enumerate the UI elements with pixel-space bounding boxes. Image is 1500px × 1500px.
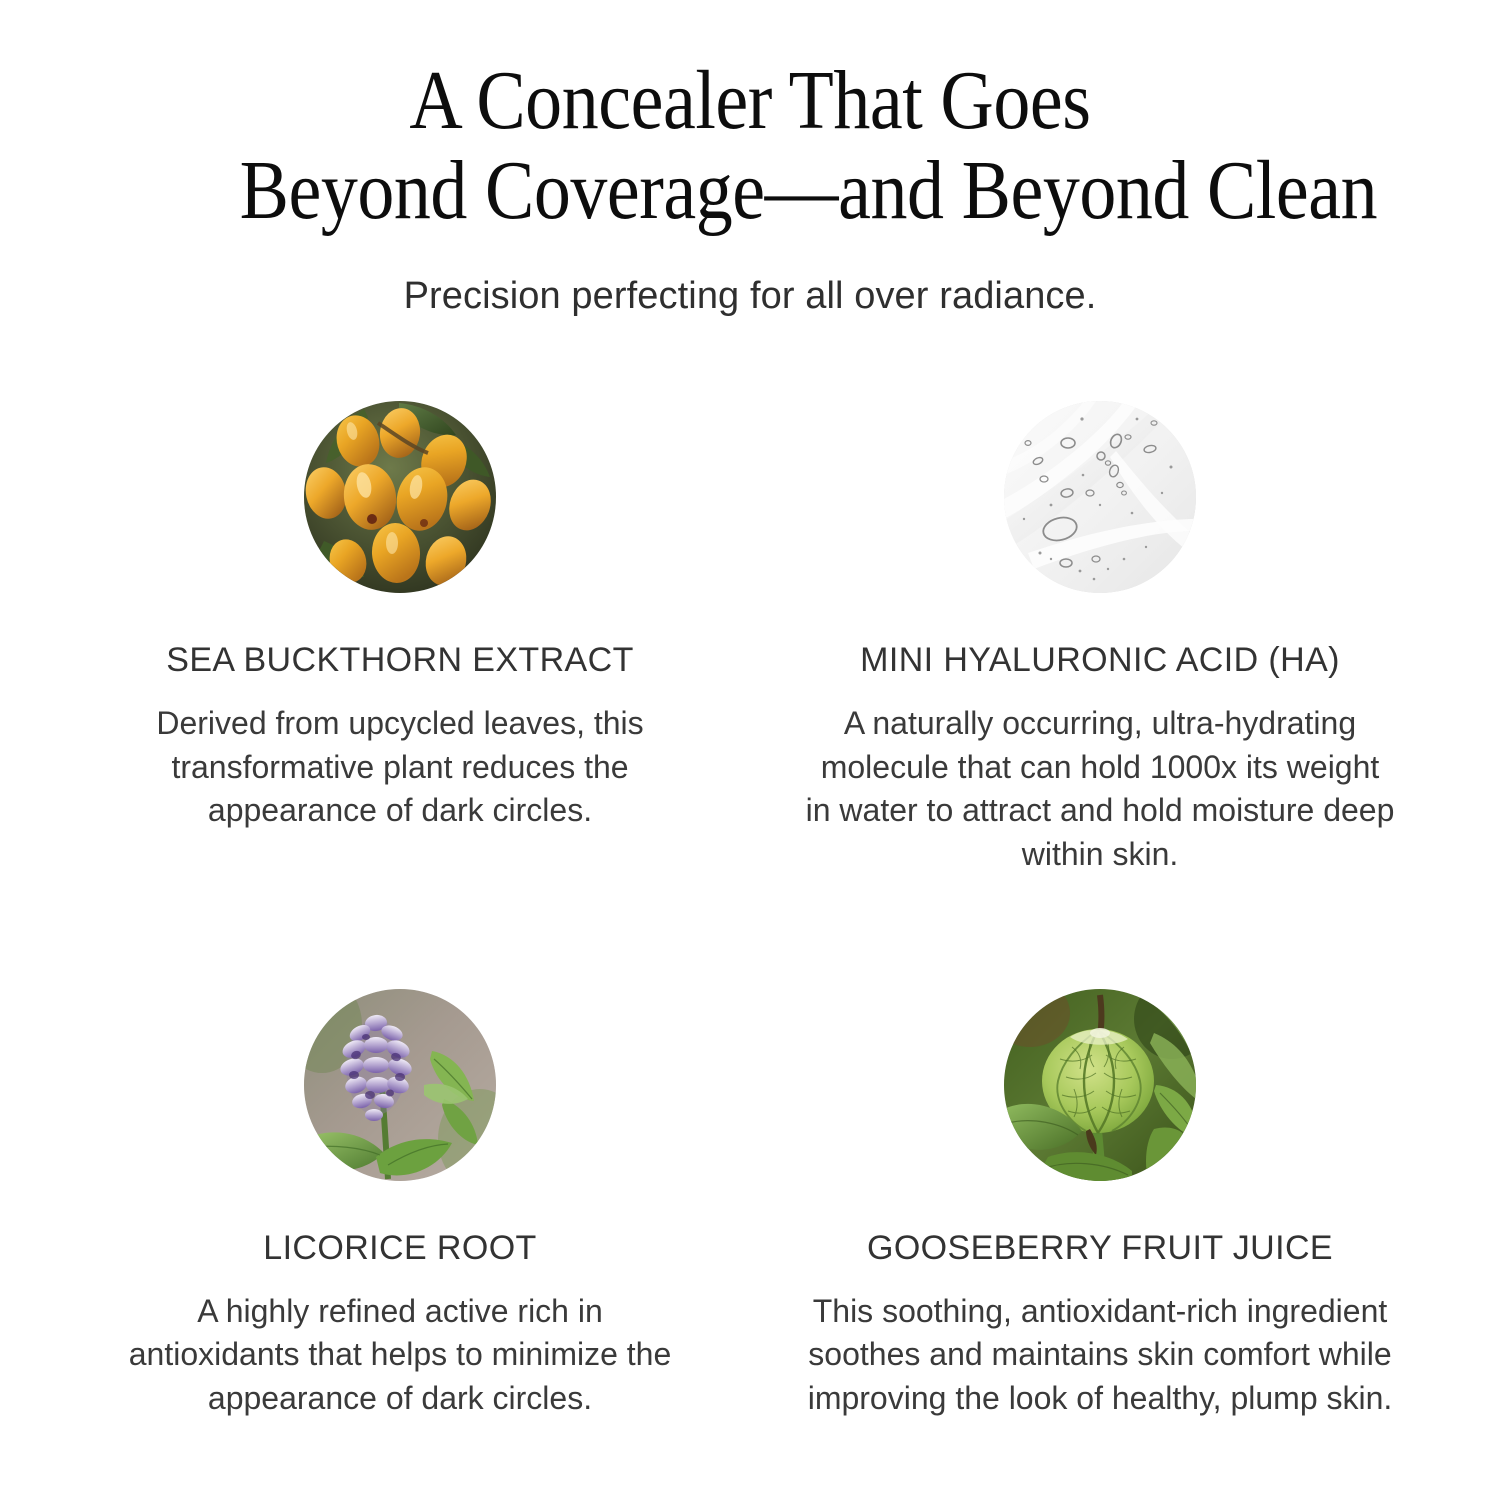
ingredient-card-hyaluronic-acid: MINI HYALURONIC ACID (HA) A naturally oc… [765,401,1435,876]
sea-buckthorn-berries-photo [304,401,496,593]
ingredient-card-sea-buckthorn: SEA BUCKTHORN EXTRACT Derived from upcyc… [65,401,735,876]
page-title-line-2: Beyond Coverage—and Beyond Clean [240,146,1261,236]
ingredient-title: GOOSEBERRY FRUIT JUICE [867,1229,1333,1268]
ingredient-title: LICORICE ROOT [263,1229,536,1268]
ingredients-grid: SEA BUCKTHORN EXTRACT Derived from upcyc… [65,319,1435,1420]
ingredient-benefits-page: A Concealer That Goes Beyond Coverage—an… [0,0,1500,1500]
ingredient-title: MINI HYALURONIC ACID (HA) [860,641,1340,680]
gooseberry-husk-fruit-photo [1004,989,1196,1181]
page-header: A Concealer That Goes Beyond Coverage—an… [0,0,1500,319]
hyaluronic-acid-gel-texture-photo [1004,401,1196,593]
ingredient-description: Derived from upcycled leaves, this trans… [120,702,680,833]
page-title-line-1: A Concealer That Goes [240,56,1261,146]
page-title: A Concealer That Goes Beyond Coverage—an… [240,56,1261,236]
page-subtitle: Precision perfecting for all over radian… [0,274,1500,320]
licorice-root-flower-photo [304,989,496,1181]
ingredient-card-licorice-root: LICORICE ROOT A highly refined active ri… [65,877,735,1421]
ingredient-card-gooseberry: GOOSEBERRY FRUIT JUICE This soothing, an… [765,877,1435,1421]
ingredient-description: A highly refined active rich in antioxid… [120,1290,680,1421]
ingredient-description: This soothing, antioxidant-rich ingredie… [805,1290,1395,1421]
ingredient-title: SEA BUCKTHORN EXTRACT [166,641,633,680]
ingredient-description: A naturally occurring, ultra-hydrating m… [805,702,1395,876]
